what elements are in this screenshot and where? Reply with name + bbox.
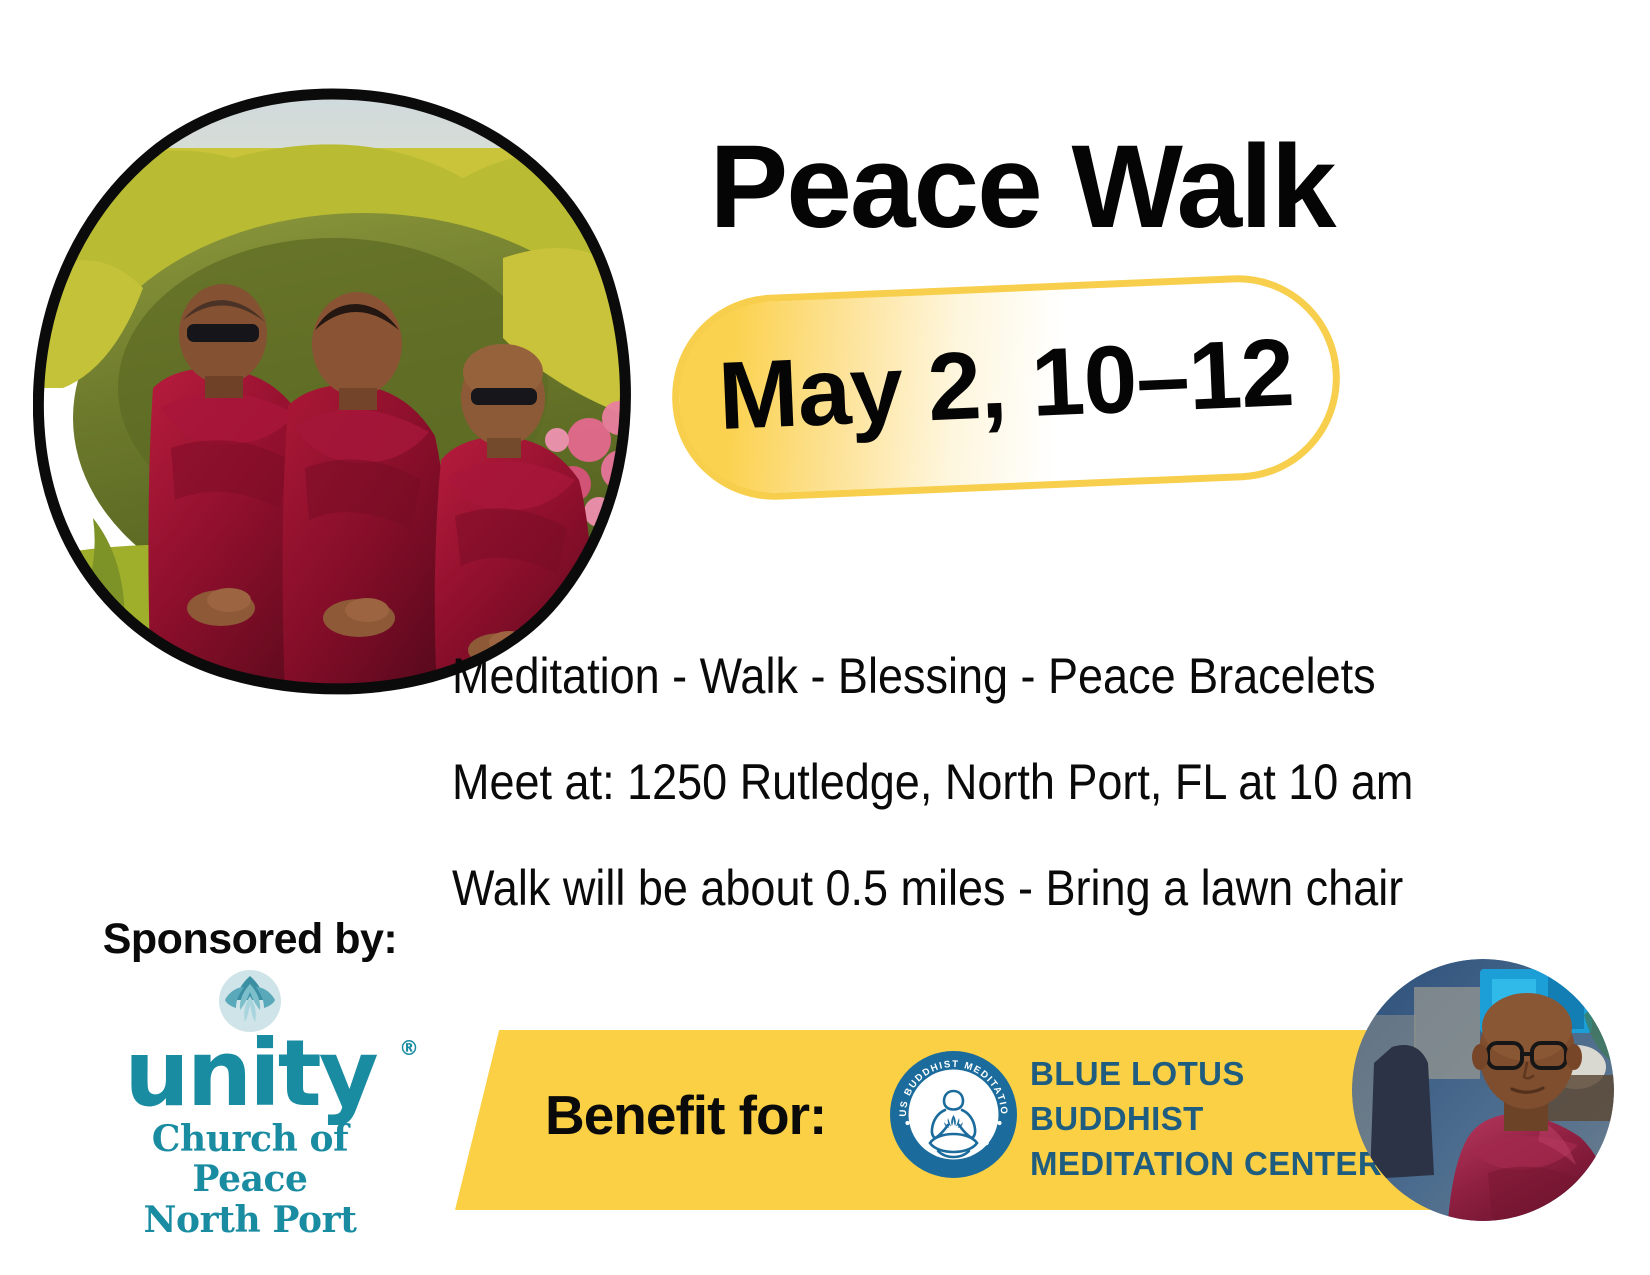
flyer-canvas: Peace Walk May 2, 10–12 Meditation - Wal… (0, 0, 1650, 1275)
unity-wordmark-text: unity (124, 1020, 375, 1127)
org-name-line3: MEDITATION CENTER (1030, 1142, 1382, 1187)
detail-line-distance: Walk will be about 0.5 miles - Bring a l… (452, 862, 1397, 915)
registered-trademark-icon: ® (399, 1040, 416, 1057)
unity-logo: unity ® Church of Peace North Port (90, 970, 410, 1240)
unity-subtitle-line1: Church of Peace (90, 1119, 410, 1200)
unity-subtitle: Church of Peace North Port (90, 1119, 410, 1240)
monk-portrait-photo (1352, 959, 1614, 1221)
org-name-line2: BUDDHIST (1030, 1097, 1382, 1142)
org-name-line1: BLUE LOTUS (1030, 1052, 1382, 1097)
blue-lotus-seal-logo: BLUE LOTUS BUDDHIST MEDITATION CENTER ww… (890, 1051, 1017, 1178)
blue-lotus-org-name: BLUE LOTUS BUDDHIST MEDITATION CENTER (1030, 1052, 1382, 1187)
date-badge-label: May 2, 10–12 (668, 271, 1344, 504)
unity-subtitle-line2: North Port (90, 1200, 410, 1240)
detail-line-location: Meet at: 1250 Rutledge, North Port, FL a… (452, 756, 1397, 809)
hero-photo (33, 88, 633, 696)
date-badge: May 2, 10–12 (668, 271, 1344, 504)
page-title: Peace Walk (672, 128, 1372, 246)
unity-wordmark: unity ® (90, 1034, 410, 1113)
sponsor-block: Sponsored by: unity ® Church of Peace No… (90, 915, 450, 1240)
sponsored-by-label: Sponsored by: (90, 915, 410, 964)
benefit-for-label: Benefit for: (545, 1083, 826, 1147)
event-details: Meditation - Walk - Blessing - Peace Bra… (452, 650, 1502, 915)
detail-line-activities: Meditation - Walk - Blessing - Peace Bra… (452, 650, 1397, 703)
